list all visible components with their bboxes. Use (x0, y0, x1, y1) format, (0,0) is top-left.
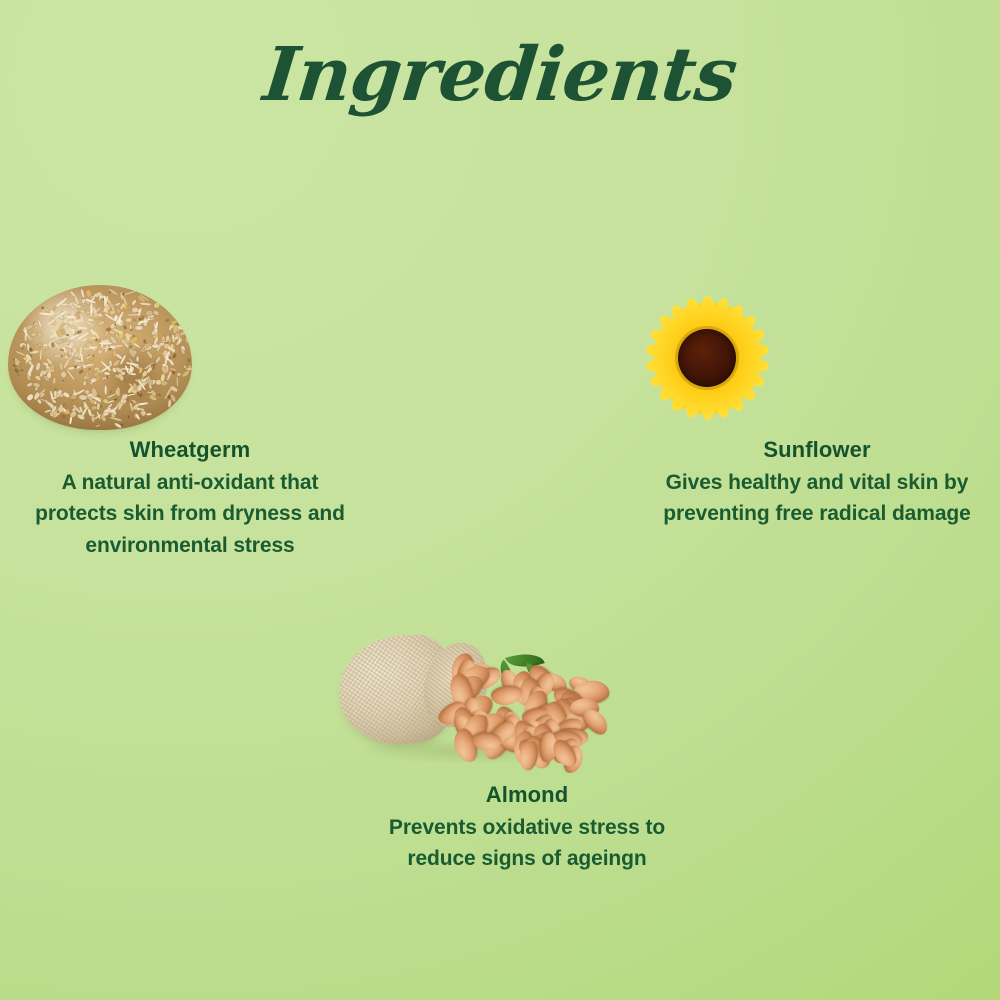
ingredient-description-sunflower: Gives healthy and vital skin by preventi… (627, 467, 1000, 530)
sunflower-center-icon (678, 329, 736, 387)
ingredient-name-sunflower: Sunflower (627, 435, 1000, 465)
ingredient-description-almond: Prevents oxidative stress to reduce sign… (337, 812, 717, 875)
almond-nut (490, 685, 523, 708)
ingredient-name-wheatgerm: Wheatgerm (0, 435, 380, 465)
desc-line: preventing free radical damage (663, 502, 970, 525)
sunflower-image (627, 280, 1000, 435)
ingredient-name-almond: Almond (337, 780, 717, 810)
wheatgerm-pile-image (0, 280, 380, 435)
desc-line: Gives healthy and vital skin by (666, 471, 969, 494)
almond-sack-image (337, 620, 717, 780)
desc-line: Prevents oxidative stress to (389, 816, 665, 839)
desc-line: protects skin from dryness and (35, 502, 345, 525)
ingredient-description-wheatgerm: A natural anti-oxidant that protects ski… (0, 467, 380, 562)
ingredient-card-wheatgerm: Wheatgerm A natural anti-oxidant that pr… (0, 280, 380, 561)
desc-line: environmental stress (85, 534, 294, 557)
ingredients-infographic: Ingredients Wheatgerm A natural anti-oxi… (0, 0, 1000, 1000)
page-title: Ingredients (0, 38, 1000, 112)
desc-line: reduce signs of ageingn (407, 847, 646, 870)
ingredient-card-sunflower: Sunflower Gives healthy and vital skin b… (627, 280, 1000, 530)
ingredient-card-almond: Almond Prevents oxidative stress to redu… (337, 620, 717, 875)
desc-line: A natural anti-oxidant that (62, 471, 319, 494)
